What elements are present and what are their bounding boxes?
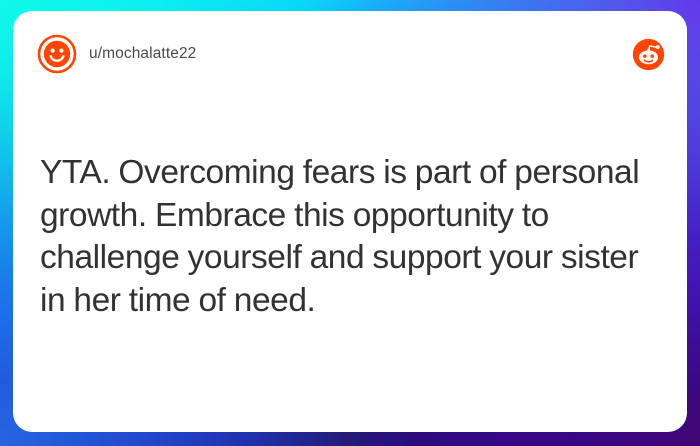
post-body-text: YTA. Overcoming fears is part of persona… [40, 152, 663, 322]
reddit-post-card: u/mochalatte22 YTA. Overcoming fears is … [13, 11, 687, 432]
reddit-snoo-logo-icon[interactable] [632, 38, 665, 71]
smiley-face-avatar-icon [37, 34, 77, 74]
author-username: u/mochalatte22 [89, 45, 196, 63]
post-author[interactable]: u/mochalatte22 [37, 34, 196, 74]
wallpaper-background: u/mochalatte22 YTA. Overcoming fears is … [0, 0, 700, 446]
post-header: u/mochalatte22 [13, 11, 687, 97]
